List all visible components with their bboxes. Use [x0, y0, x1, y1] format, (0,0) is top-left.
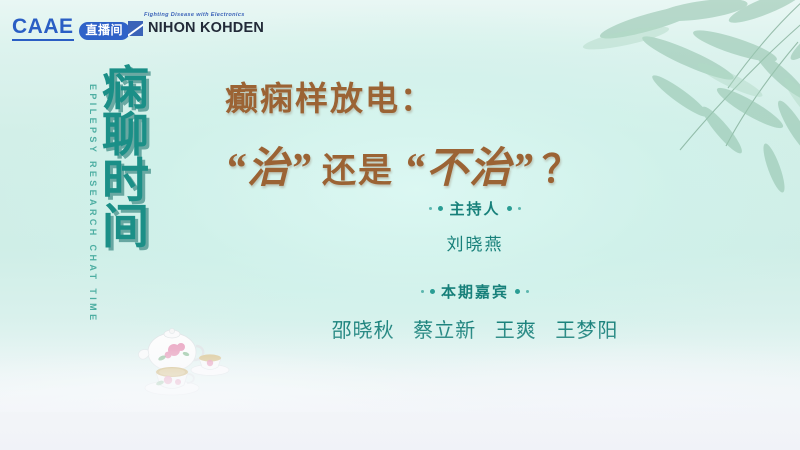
nihon-kohden-mark-icon: [128, 21, 143, 36]
poster-title: 癫痫样放电： “治” 还是 “不治” ？: [225, 72, 785, 195]
decor-dot-icon: [421, 290, 424, 293]
host-label: 主持人: [449, 198, 500, 219]
host-section: 主持人 刘晓燕: [225, 198, 725, 255]
host-label-row: 主持人: [225, 198, 725, 219]
program-brand-chinese: 痫 聊 时 间: [102, 66, 149, 250]
brand-char: 间: [102, 204, 149, 250]
decor-dot-icon: [430, 289, 435, 294]
brand-char: 痫: [102, 66, 149, 112]
title-line-2: “治” 还是 “不治” ？: [225, 134, 785, 195]
decor-dot-icon: [438, 206, 443, 211]
guest-name: 蔡立新: [413, 320, 476, 342]
nihon-kohden-logo: Fighting Disease with Electronics NIHON …: [128, 12, 264, 36]
brand-char: 聊: [102, 112, 149, 158]
title-quoted-treat: “治”: [225, 134, 312, 195]
nihon-kohden-tagline: Fighting Disease with Electronics: [144, 12, 245, 18]
caae-live-room-badge: 直播间: [79, 22, 131, 40]
guest-name: 邵晓秋: [332, 320, 395, 342]
title-middle-word: 还是: [322, 143, 394, 192]
program-brand-vertical: EPILEPSY RESEARCH CHAT TIME 痫 聊 时 间: [88, 66, 149, 316]
decor-dot-icon: [526, 290, 529, 293]
nihon-kohden-wordmark: NIHON KOHDEN: [148, 20, 264, 36]
decor-dot-icon: [507, 206, 512, 211]
guest-name: 王爽: [495, 320, 537, 342]
teapot-and-cups-icon: [120, 312, 240, 402]
decor-dot-icon: [429, 207, 432, 210]
title-question-mark: ？: [542, 138, 580, 193]
guests-label-row: 本期嘉宾: [225, 281, 725, 302]
header-logos: CAAE 直播间 Fighting Disease with Electroni…: [0, 0, 800, 60]
guests-label: 本期嘉宾: [441, 281, 509, 302]
livestream-poster: CAAE 直播间 Fighting Disease with Electroni…: [0, 0, 800, 450]
guest-name-list: 邵晓秋 蔡立新 王爽 王梦阳: [225, 314, 725, 343]
guests-section: 本期嘉宾 邵晓秋 蔡立新 王爽 王梦阳: [225, 281, 725, 343]
brand-char: 时: [102, 158, 149, 204]
guest-name: 王梦阳: [555, 320, 618, 342]
caae-wordmark: CAAE: [12, 16, 74, 41]
decor-dot-icon: [515, 289, 520, 294]
host-name: 刘晓燕: [225, 230, 725, 255]
program-brand-english: EPILEPSY RESEARCH CHAT TIME: [88, 84, 98, 316]
decor-dot-icon: [518, 207, 521, 210]
caae-logo: CAAE 直播间: [12, 16, 130, 41]
title-line-1: 癫痫样放电：: [225, 72, 785, 120]
title-quoted-not-treat: “不治”: [404, 134, 534, 195]
